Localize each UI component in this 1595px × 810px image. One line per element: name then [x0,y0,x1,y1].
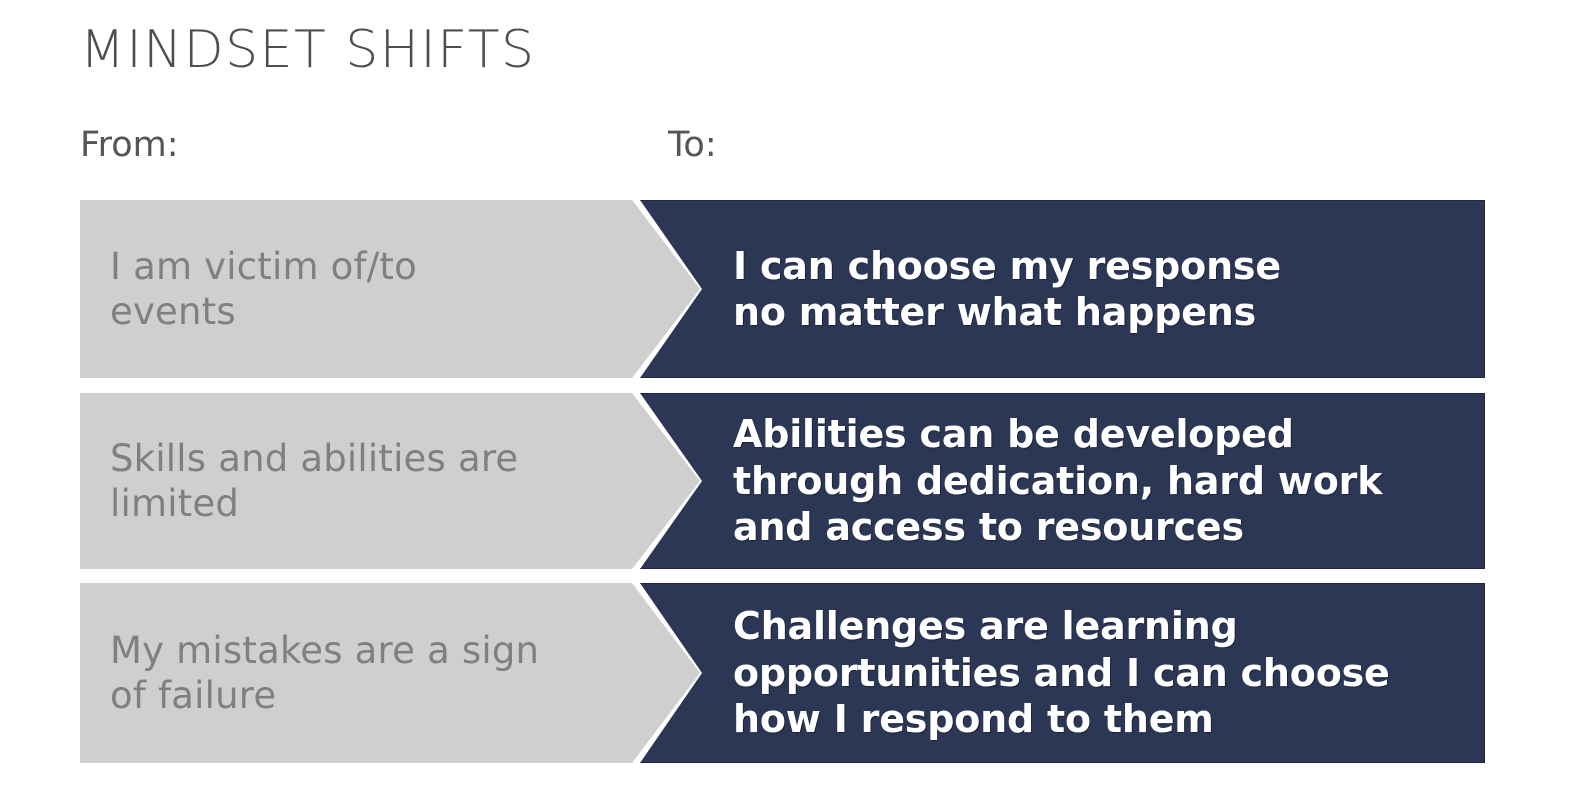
mindset-shift-row: Skills and abilities are limited Abiliti… [0,393,1595,569]
from-chevron-2: Skills and abilities are limited [80,393,700,569]
from-text-3: My mistakes are a sign of failure [110,628,539,719]
from-line: limited [110,481,518,527]
from-chevron-3: My mistakes are a sign of failure [80,583,700,763]
to-chevron-3: Challenges are learning opportunities an… [640,583,1485,763]
to-line: opportunities and I can choose [733,650,1390,696]
to-text-2: Abilities can be developed through dedic… [733,411,1382,550]
mindset-shift-row: My mistakes are a sign of failure Challe… [0,583,1595,763]
to-chevron-2: Abilities can be developed through dedic… [640,393,1485,569]
to-line: no matter what happens [733,289,1281,335]
to-line: Challenges are learning [733,603,1390,649]
to-line: how I respond to them [733,696,1390,742]
from-chevron-1: I am victim of/to events [80,200,700,378]
to-line: and access to resources [733,504,1382,550]
from-line: I am victim of/to [110,244,417,290]
mindset-shift-row: I am victim of/to events I can choose my… [0,200,1595,378]
mindset-shift-rows: I am victim of/to events I can choose my… [0,0,1595,810]
to-text-3: Challenges are learning opportunities an… [733,603,1390,742]
from-text-1: I am victim of/to events [110,244,417,335]
from-line: Skills and abilities are [110,436,518,482]
to-line: through dedication, hard work [733,458,1382,504]
to-line: I can choose my response [733,243,1281,289]
from-text-2: Skills and abilities are limited [110,436,518,527]
to-text-1: I can choose my response no matter what … [733,243,1281,336]
from-line: events [110,289,417,335]
to-chevron-1: I can choose my response no matter what … [640,200,1485,378]
to-line: Abilities can be developed [733,411,1382,457]
from-line: My mistakes are a sign [110,628,539,674]
from-line: of failure [110,673,539,719]
